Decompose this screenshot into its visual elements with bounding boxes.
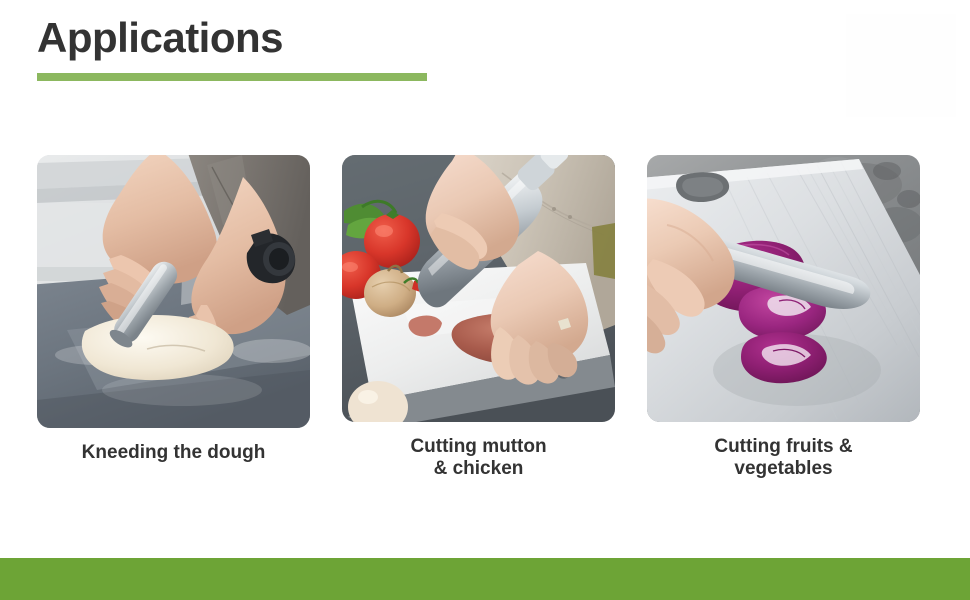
card-caption: Kneeding the dough — [37, 442, 310, 464]
cutting-meat-photo — [342, 155, 615, 422]
page-header: Applications — [37, 14, 283, 62]
card-caption: Cutting fruits & vegetables — [647, 436, 920, 480]
application-card-cutting-meat[interactable]: Cutting mutton & chicken — [342, 155, 615, 480]
card-caption: Cutting mutton & chicken — [342, 436, 615, 480]
application-card-kneading-dough[interactable]: Kneeding the dough — [37, 155, 310, 480]
applications-card-row: Kneeding the dough — [37, 155, 920, 480]
kneading-dough-photo — [37, 155, 310, 428]
applications-slide: Applications — [0, 0, 970, 600]
cutting-vegetables-photo — [647, 155, 920, 422]
page-title: Applications — [37, 14, 283, 62]
decorative-panel — [846, 14, 956, 117]
footer-green-band — [0, 558, 970, 600]
title-underline-rule — [37, 73, 427, 81]
application-card-cutting-vegetables[interactable]: Cutting fruits & vegetables — [647, 155, 920, 480]
